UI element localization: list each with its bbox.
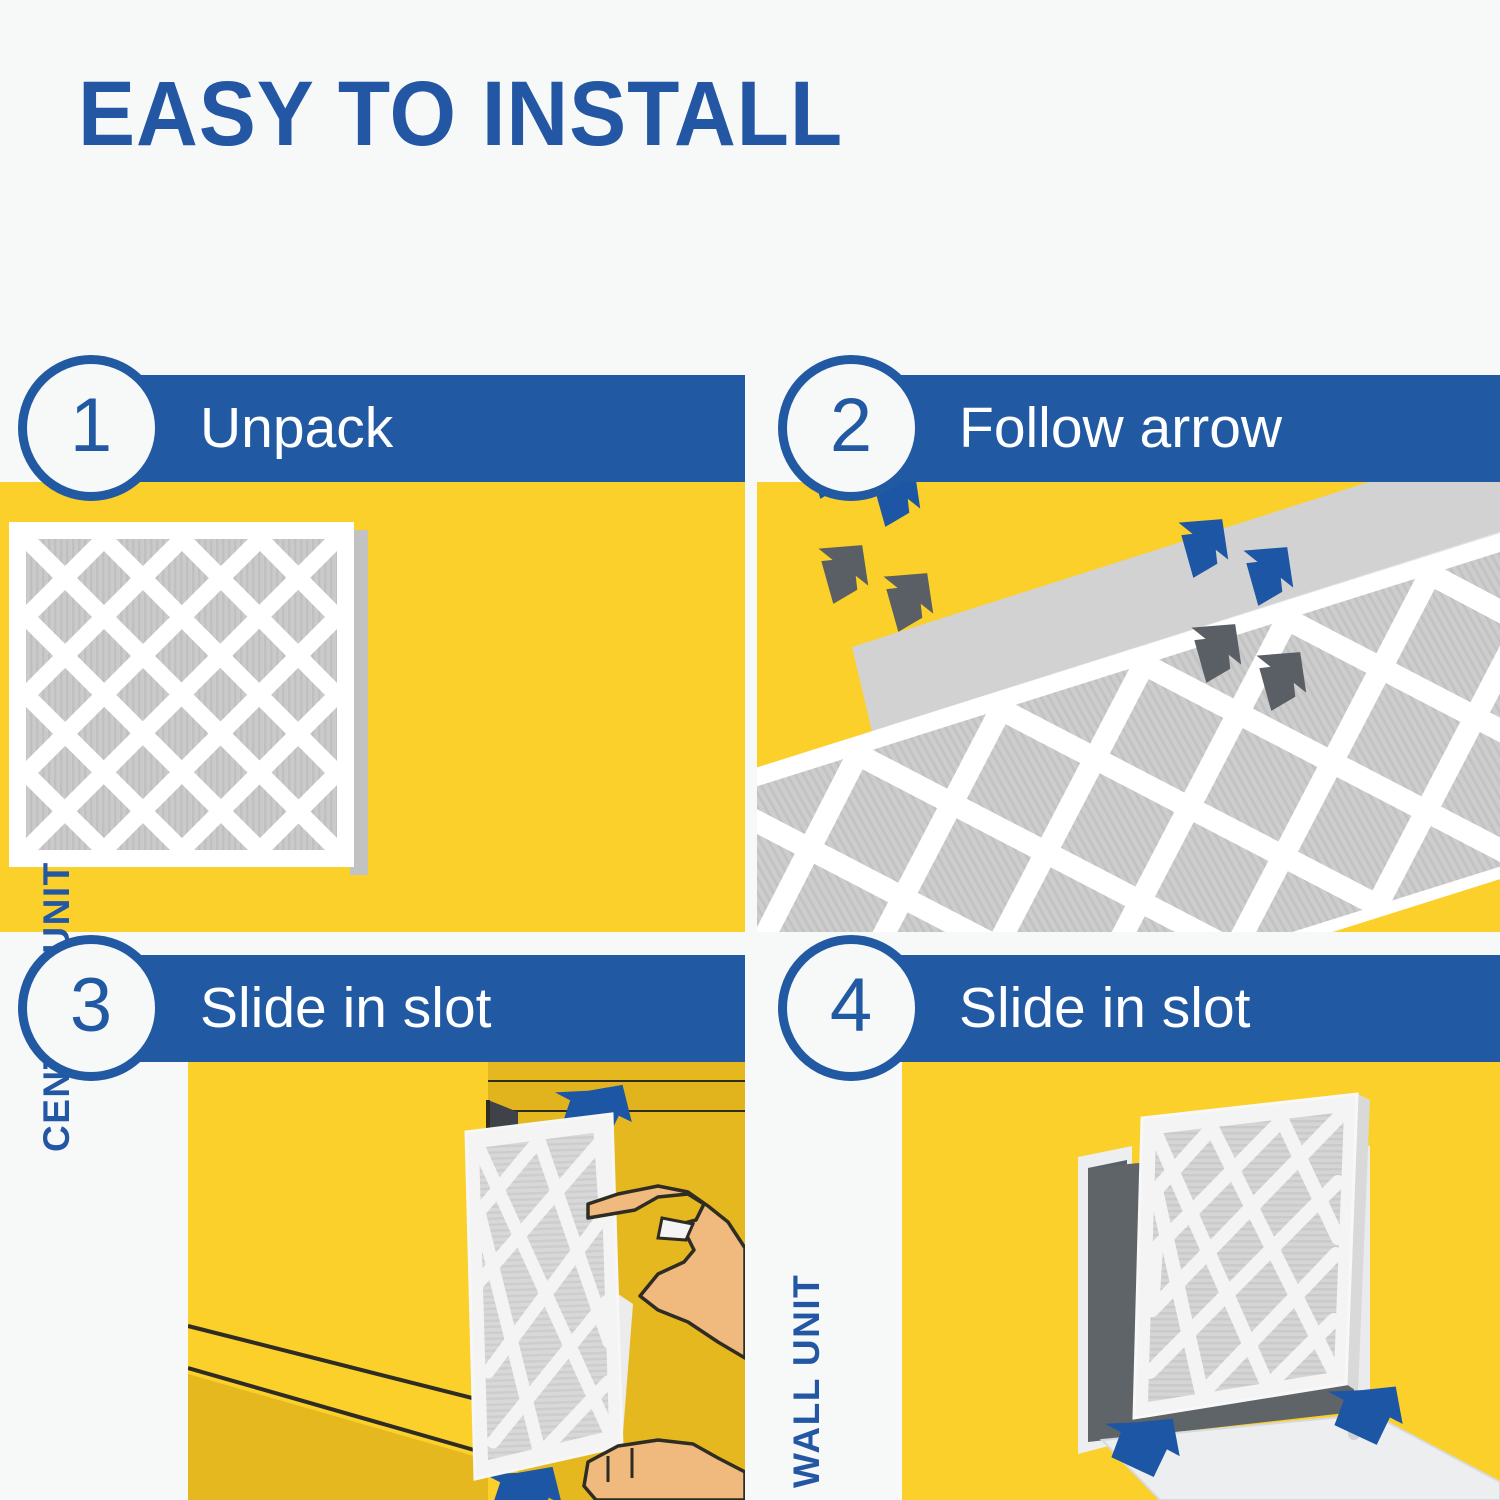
page-title: EASY TO INSTALL (78, 68, 843, 160)
step-2-number: 2 (830, 388, 872, 464)
wall-vent-insert-svg (902, 1042, 1500, 1500)
step-1-banner: Unpack (63, 375, 745, 482)
step-4-illustration (902, 1042, 1500, 1500)
step-3-number-badge: 3 (18, 935, 164, 1081)
step-1-label: Unpack (200, 375, 393, 482)
step-1-number: 1 (70, 388, 112, 464)
step-1-number-badge: 1 (18, 355, 164, 501)
step-3-number: 3 (70, 968, 112, 1044)
air-filter-angled-with-arrows-svg (757, 482, 1500, 932)
step-3-banner: Slide in slot (63, 955, 745, 1062)
step-3-illustration (188, 1042, 745, 1500)
airflow-arrow-gray-left (787, 515, 897, 625)
air-filter-front-view-svg (0, 482, 745, 932)
step-2-number-badge: 2 (778, 355, 924, 501)
step-4-number-badge: 4 (778, 935, 924, 1081)
step-4-label: Slide in slot (959, 955, 1251, 1062)
filter-in-vent (1134, 1094, 1370, 1418)
step-2-illustration (757, 482, 1500, 932)
step-1-illustration (0, 482, 745, 932)
step-4-side-label: WALL UNIT (786, 1274, 828, 1488)
infographic-page: EASY TO INSTALL (0, 0, 1500, 1500)
furnace-slot-insert-svg (188, 1042, 745, 1500)
step-4-number: 4 (830, 968, 872, 1044)
filter-in-hands (466, 1114, 633, 1479)
step-3-label: Slide in slot (200, 955, 492, 1062)
step-2-label: Follow arrow (959, 375, 1282, 482)
